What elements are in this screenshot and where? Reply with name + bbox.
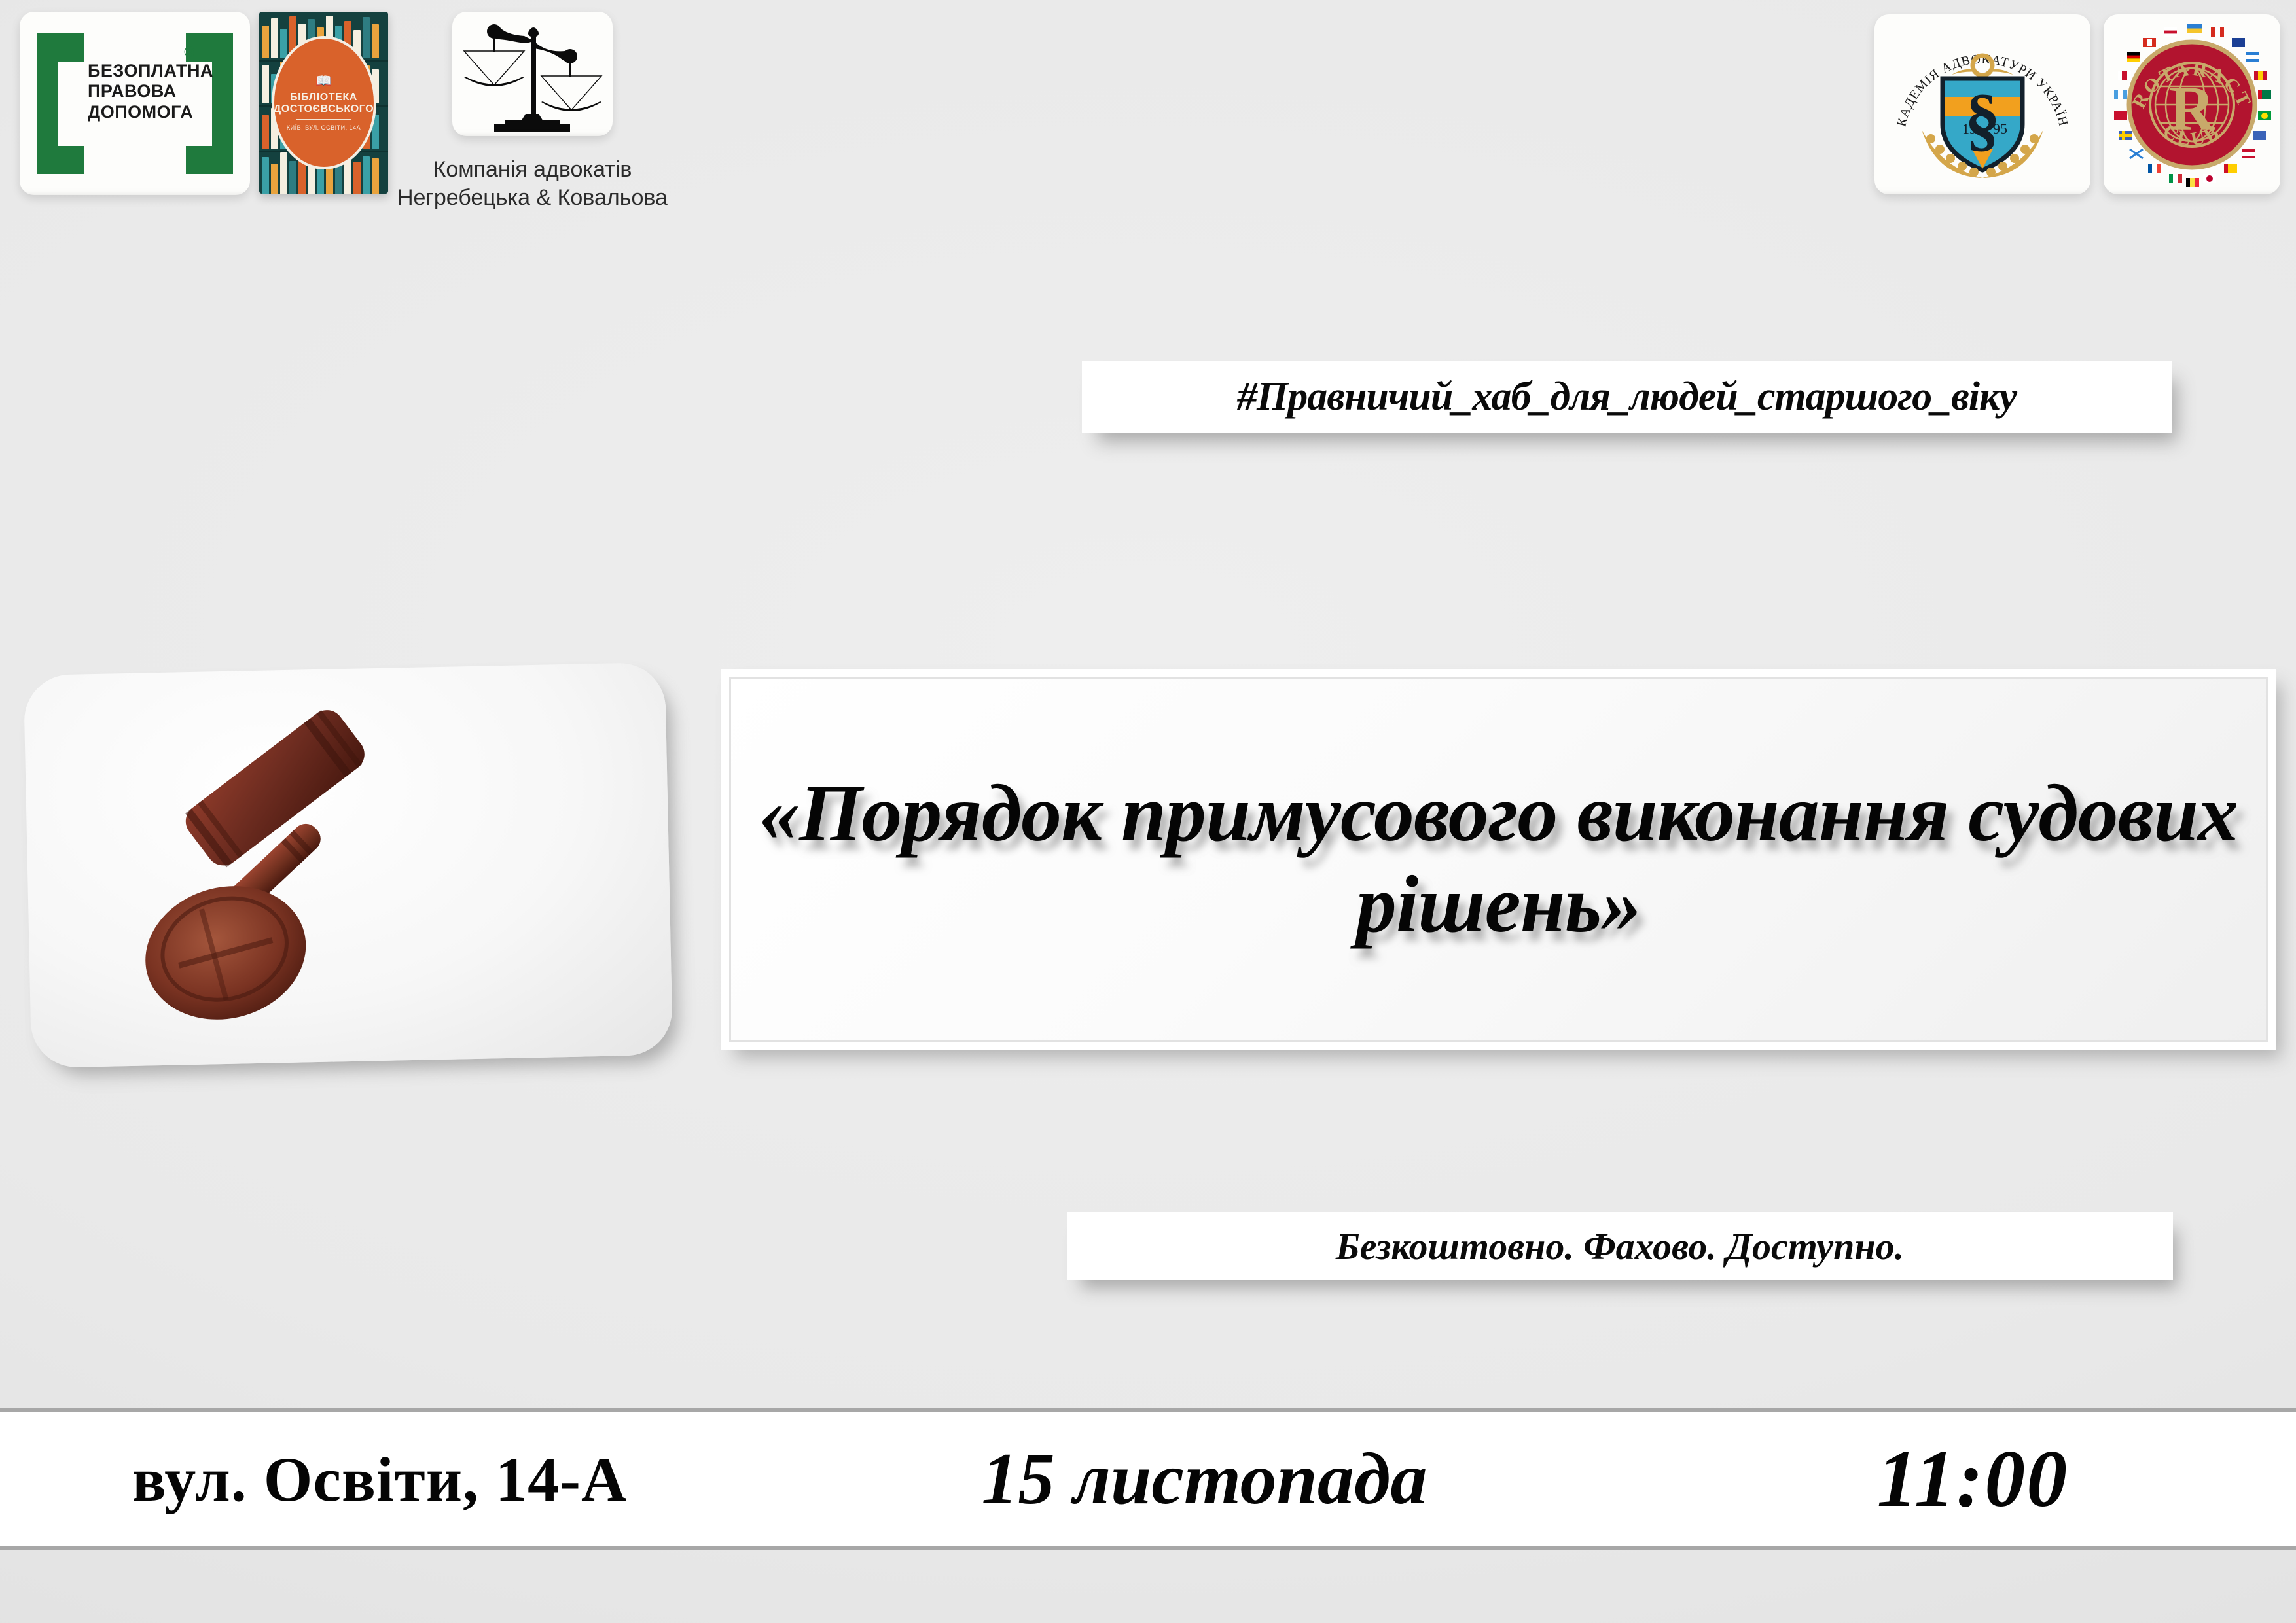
library-name-line-1: БІБЛІОТЕКА: [290, 92, 357, 103]
library-address: КИЇВ, ВУЛ. ОСВІТИ, 14А: [287, 124, 361, 131]
event-date: 15 листопада: [759, 1437, 1649, 1522]
partner-logos-right: АКАДЕМІЯ АДВОКАТУРИ УКРАЇНИ 19 95 §: [1874, 14, 2280, 194]
gavel-icon: [24, 662, 673, 1068]
event-time: 11:00: [1649, 1433, 2296, 1525]
logo-rotaract-club: ROTARACT CLUB R: [2104, 14, 2280, 194]
poster-canvas: БЕЗОПЛАТНА ПРАВОВА ДОПОМОГА ®: [0, 0, 2296, 1623]
judge-gavel-photo: [24, 662, 673, 1068]
hashtag-banner: #Правничий_хаб_для_людей_старшого_віку: [1082, 361, 2172, 433]
event-title-panel: «Порядок примусового виконання судових р…: [721, 669, 2276, 1050]
partner-logos-left: БЕЗОПЛАТНА ПРАВОВА ДОПОМОГА ®: [20, 12, 668, 211]
academy-emblem-icon: АКАДЕМІЯ АДВОКАТУРИ УКРАЇНИ 19 95 §: [1874, 14, 2090, 194]
logo-free-legal-aid: БЕЗОПЛАТНА ПРАВОВА ДОПОМОГА ®: [20, 12, 250, 195]
hashtag-text: #Правничий_хаб_для_людей_старшого_віку: [1237, 374, 2017, 420]
library-badge: 📖 БІБЛІОТЕКА ДОСТОЄВСЬКОГО КИЇВ, ВУЛ. ОС…: [272, 36, 376, 169]
page-title: «Порядок примусового виконання судових р…: [729, 768, 2268, 950]
svg-text:§: §: [1965, 80, 2000, 158]
logo-dostoevsky-library: 📖 БІБЛІОТЕКА ДОСТОЄВСЬКОГО КИЇВ, ВУЛ. ОС…: [259, 12, 388, 194]
fla-line-1: БЕЗОПЛАТНА: [88, 61, 192, 82]
book-open-icon: 📖: [315, 75, 332, 88]
logo-law-firm: Компанія адвокатів Негребецька & Ковальо…: [397, 12, 668, 211]
scales-card: [452, 12, 613, 136]
rotaract-emblem-icon: ROTARACT CLUB R: [2104, 14, 2280, 194]
fla-line-2: ПРАВОВА: [88, 81, 192, 102]
scales-of-justice-icon: [452, 12, 613, 136]
fla-line-3: ДОПОМОГА: [88, 102, 192, 123]
logo-academy-of-advocacy: АКАДЕМІЯ АДВОКАТУРИ УКРАЇНИ 19 95 §: [1874, 14, 2090, 194]
tagline-text: Безкоштовно. Фахово. Доступно.: [1336, 1224, 1904, 1268]
law-firm-caption: Компанія адвокатів Негребецька & Ковальо…: [397, 156, 668, 211]
event-details-bar: вул. Освіти, 14-А 15 листопада 11:00: [0, 1408, 2296, 1550]
law-firm-caption-line-1: Компанія адвокатів: [397, 156, 668, 184]
library-name-line-2: ДОСТОЄВСЬКОГО: [274, 103, 374, 115]
tagline-banner: Безкоштовно. Фахово. Доступно.: [1067, 1212, 2173, 1280]
registered-trademark-icon: ®: [184, 44, 195, 61]
svg-text:R: R: [2169, 73, 2215, 143]
divider: [296, 119, 351, 120]
bracket-left-shape: [37, 33, 84, 174]
law-firm-caption-line-2: Негребецька & Ковальова: [397, 184, 668, 212]
event-address: вул. Освіти, 14-А: [0, 1443, 759, 1516]
free-legal-aid-wordmark: БЕЗОПЛАТНА ПРАВОВА ДОПОМОГА ®: [88, 61, 192, 124]
